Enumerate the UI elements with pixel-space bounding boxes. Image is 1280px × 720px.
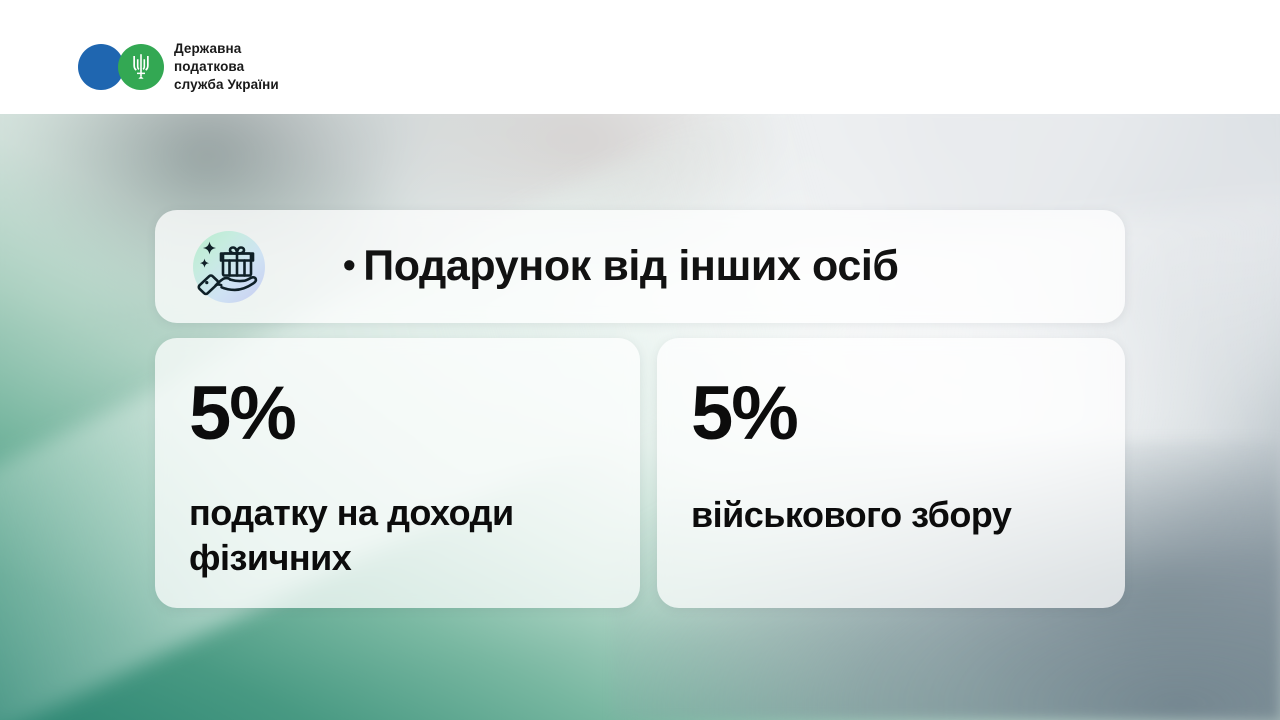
logo-block: Державна податкова служба України	[78, 40, 279, 94]
logo-marks	[78, 44, 168, 90]
organization-name: Державна податкова служба України	[174, 40, 279, 94]
stat-label: військового збору	[691, 492, 1091, 537]
gift-hand-glyph	[185, 225, 269, 309]
heading-card: •Подарунок від інших осіб	[155, 210, 1125, 323]
slide-root: Державна податкова служба України	[0, 0, 1280, 720]
stat-value: 5%	[691, 378, 1091, 450]
stat-value: 5%	[189, 378, 606, 450]
green-circle-icon	[118, 44, 164, 90]
stat-card-income-tax: 5% податку на доходи фізичних	[155, 338, 640, 608]
trident-icon	[130, 53, 152, 81]
bullet-marker: •	[343, 247, 355, 283]
heading-text-wrap: •Подарунок від інших осіб	[343, 245, 899, 288]
stat-card-military-levy: 5% військового збору	[657, 338, 1125, 608]
page-title: Подарунок від інших осіб	[363, 242, 898, 290]
stat-label: податку на доходи фізичних	[189, 490, 606, 580]
gift-in-hand-icon	[185, 225, 269, 309]
header-bar: Державна податкова служба України	[0, 0, 1280, 114]
